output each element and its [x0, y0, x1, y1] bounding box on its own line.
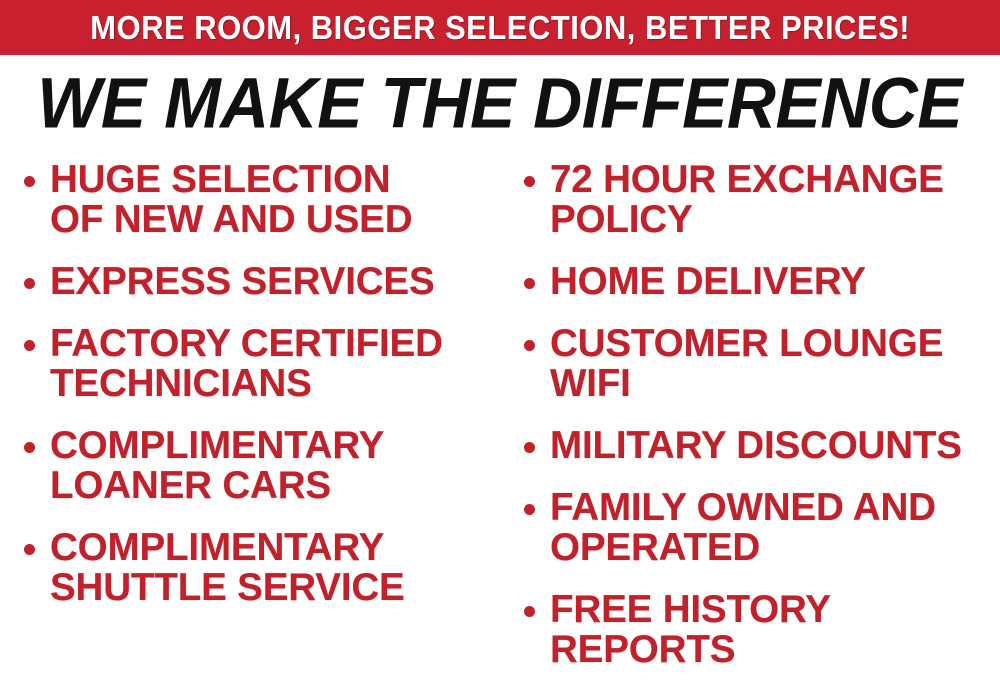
bullet-dot-icon [24, 340, 35, 351]
benefits-columns: HUGE SELECTION OF NEW AND USED EXPRESS S… [0, 160, 1000, 680]
list-item: EXPRESS SERVICES [14, 262, 494, 302]
list-item-label: FACTORY CERTIFIED TECHNICIANS [50, 324, 490, 404]
bullet-dot-icon [524, 340, 535, 351]
list-item: MILITARY DISCOUNTS [514, 426, 1000, 466]
promotional-banner: MORE ROOM, BIGGER SELECTION, BETTER PRIC… [0, 0, 1000, 694]
list-item-label: COMPLIMENTARY SHUTTLE SERVICE [50, 528, 490, 608]
top-banner-headline: MORE ROOM, BIGGER SELECTION, BETTER PRIC… [90, 11, 910, 44]
list-item-label: COMPLIMENTARY LOANER CARS [50, 426, 490, 506]
bullet-dot-icon [24, 544, 35, 555]
headline-container: WE MAKE THE DIFFERENCE [0, 68, 1000, 138]
list-item: FACTORY CERTIFIED TECHNICIANS [14, 324, 494, 404]
list-item-label: FREE HISTORY REPORTS [550, 590, 996, 670]
bullet-dot-icon [24, 176, 35, 187]
list-item-label: HOME DELIVERY [550, 262, 996, 302]
top-banner-strip: MORE ROOM, BIGGER SELECTION, BETTER PRIC… [0, 0, 1000, 55]
benefits-column-right: 72 HOUR EXCHANGE POLICY HOME DELIVERY CU… [514, 160, 1000, 692]
bullet-dot-icon [24, 278, 35, 289]
bullet-dot-icon [24, 442, 35, 453]
list-item-label: HUGE SELECTION OF NEW AND USED [50, 160, 490, 240]
list-item: FAMILY OWNED AND OPERATED [514, 488, 1000, 568]
page-title: WE MAKE THE DIFFERENCE [38, 67, 963, 138]
list-item: HUGE SELECTION OF NEW AND USED [14, 160, 494, 240]
list-item: COMPLIMENTARY LOANER CARS [14, 426, 494, 506]
list-item: FREE HISTORY REPORTS [514, 590, 1000, 670]
list-item: CUSTOMER LOUNGE WIFI [514, 324, 1000, 404]
bullet-dot-icon [524, 606, 535, 617]
list-item: COMPLIMENTARY SHUTTLE SERVICE [14, 528, 494, 608]
bullet-dot-icon [524, 278, 535, 289]
bullet-dot-icon [524, 504, 535, 515]
list-item-label: FAMILY OWNED AND OPERATED [550, 488, 996, 568]
list-item: HOME DELIVERY [514, 262, 1000, 302]
bullet-dot-icon [524, 176, 535, 187]
list-item: 72 HOUR EXCHANGE POLICY [514, 160, 1000, 240]
list-item-label: EXPRESS SERVICES [50, 262, 490, 302]
list-item-label: CUSTOMER LOUNGE WIFI [550, 324, 996, 404]
list-item-label: 72 HOUR EXCHANGE POLICY [550, 160, 996, 240]
list-item-label: MILITARY DISCOUNTS [550, 426, 996, 466]
benefits-column-left: HUGE SELECTION OF NEW AND USED EXPRESS S… [14, 160, 494, 630]
bullet-dot-icon [524, 442, 535, 453]
